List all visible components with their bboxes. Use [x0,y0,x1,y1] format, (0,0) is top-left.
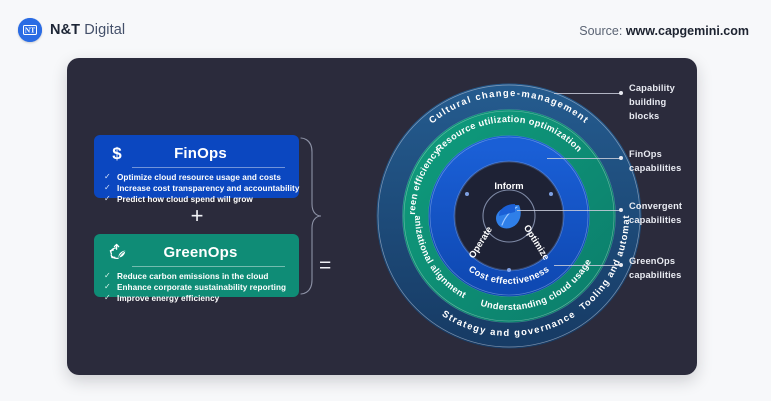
list-item: ✓Increase cost transparency and accounta… [104,183,289,194]
greenops-card-title: GreenOps [134,245,289,260]
check-icon: ✓ [104,194,112,205]
finops-card-header: $ FinOps [104,143,289,163]
check-icon: ✓ [104,293,112,304]
svg-text:NT: NT [25,26,35,35]
capability-wheel: Cultural change-management Strategy and … [359,66,659,366]
finops-bullet-list: ✓Optimize cloud resource usage and costs… [104,172,289,205]
finops-bullet-1: Optimize cloud resource usage and costs [117,172,281,183]
source-label: Source: [579,24,626,38]
brand-name-bold: N&T [50,22,80,38]
brand-name: N&T Digital [50,22,125,38]
greenops-card: GreenOps ✓Reduce carbon emissions in the… [94,234,299,297]
diagram-panel: $ FinOps ✓Optimize cloud resource usage … [67,58,697,375]
finops-bullet-2: Increase cost transparency and accountab… [117,183,299,194]
check-icon: ✓ [104,183,112,194]
finops-card-divider [132,167,285,168]
plus-symbol: + [185,204,209,228]
greenops-bullet-1: Reduce carbon emissions in the cloud [117,271,268,282]
list-item: ✓Optimize cloud resource usage and costs [104,172,289,183]
list-item: ✓Reduce carbon emissions in the cloud [104,271,289,282]
list-item: ✓Enhance corporate sustainability report… [104,282,289,293]
page-root: NT N&T Digital Source: www.capgemini.com… [0,0,771,401]
svg-text:$: $ [112,144,122,162]
greenops-bullet-list: ✓Reduce carbon emissions in the cloud ✓E… [104,271,289,304]
greenops-bullet-2: Enhance corporate sustainability reporti… [117,282,286,293]
dollar-icon: $ [104,144,130,162]
finops-card-title: FinOps [134,146,289,161]
greenops-card-divider [132,266,285,267]
core-label-inform: Inform [494,180,523,191]
greenops-card-header: GreenOps [104,242,289,262]
source-attribution: Source: www.capgemini.com [579,24,749,38]
check-icon: ✓ [104,172,112,183]
greenops-bullet-3: Improve energy efficiency [117,293,219,304]
page-header: NT N&T Digital Source: www.capgemini.com [0,0,771,58]
check-icon: ✓ [104,271,112,282]
brand-name-rest: Digital [80,22,125,38]
list-item: ✓Improve energy efficiency [104,293,289,304]
recycle-leaf-icon [104,243,130,261]
source-url: www.capgemini.com [626,24,749,38]
finops-card: $ FinOps ✓Optimize cloud resource usage … [94,135,299,198]
equals-symbol: = [319,255,331,276]
check-icon: ✓ [104,282,112,293]
brand-logo-icon: NT [18,18,42,42]
brand: NT N&T Digital [18,18,125,42]
